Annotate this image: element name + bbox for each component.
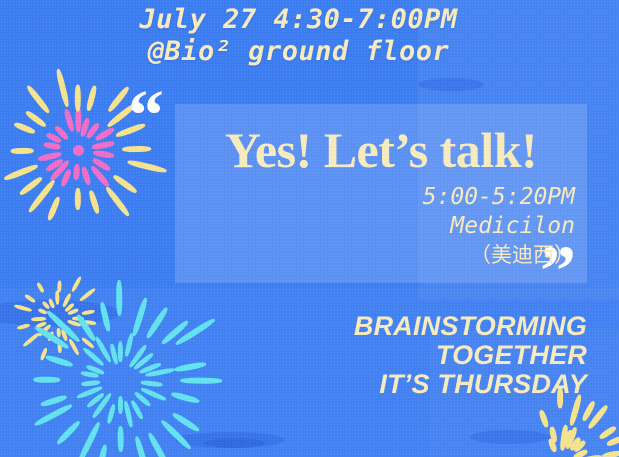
header-line-1: July 27 4:30-7:00PM [0, 4, 597, 36]
header-line-2: @Bio² ground floor [0, 36, 597, 68]
session-company-chinese: （美迪西） [175, 241, 575, 270]
session-details: 5:00-5:20PM Medicilon （美迪西） [175, 183, 575, 270]
quote-open-icon: “ [128, 79, 164, 151]
session-time: 5:00-5:20PM [175, 183, 575, 212]
poster-canvas: July 27 4:30-7:00PM @Bio² ground floor “… [0, 0, 619, 457]
tagline-line-3: IT’S THURSDAY [290, 370, 587, 399]
header-text: July 27 4:30-7:00PM @Bio² ground floor [0, 4, 597, 68]
session-company: Medicilon [175, 212, 575, 241]
background-blob-bottom-right [470, 430, 550, 444]
tagline-line-2: TOGETHER [290, 341, 587, 370]
tagline-text: BRAINSTORMING TOGETHER IT’S THURSDAY [290, 312, 587, 399]
tagline-line-1: BRAINSTORMING [290, 312, 587, 341]
background-blob-bottom-wide [205, 438, 265, 448]
headline-text: Yes! Let’s talk! [175, 122, 587, 178]
background-blob-top [418, 78, 484, 91]
